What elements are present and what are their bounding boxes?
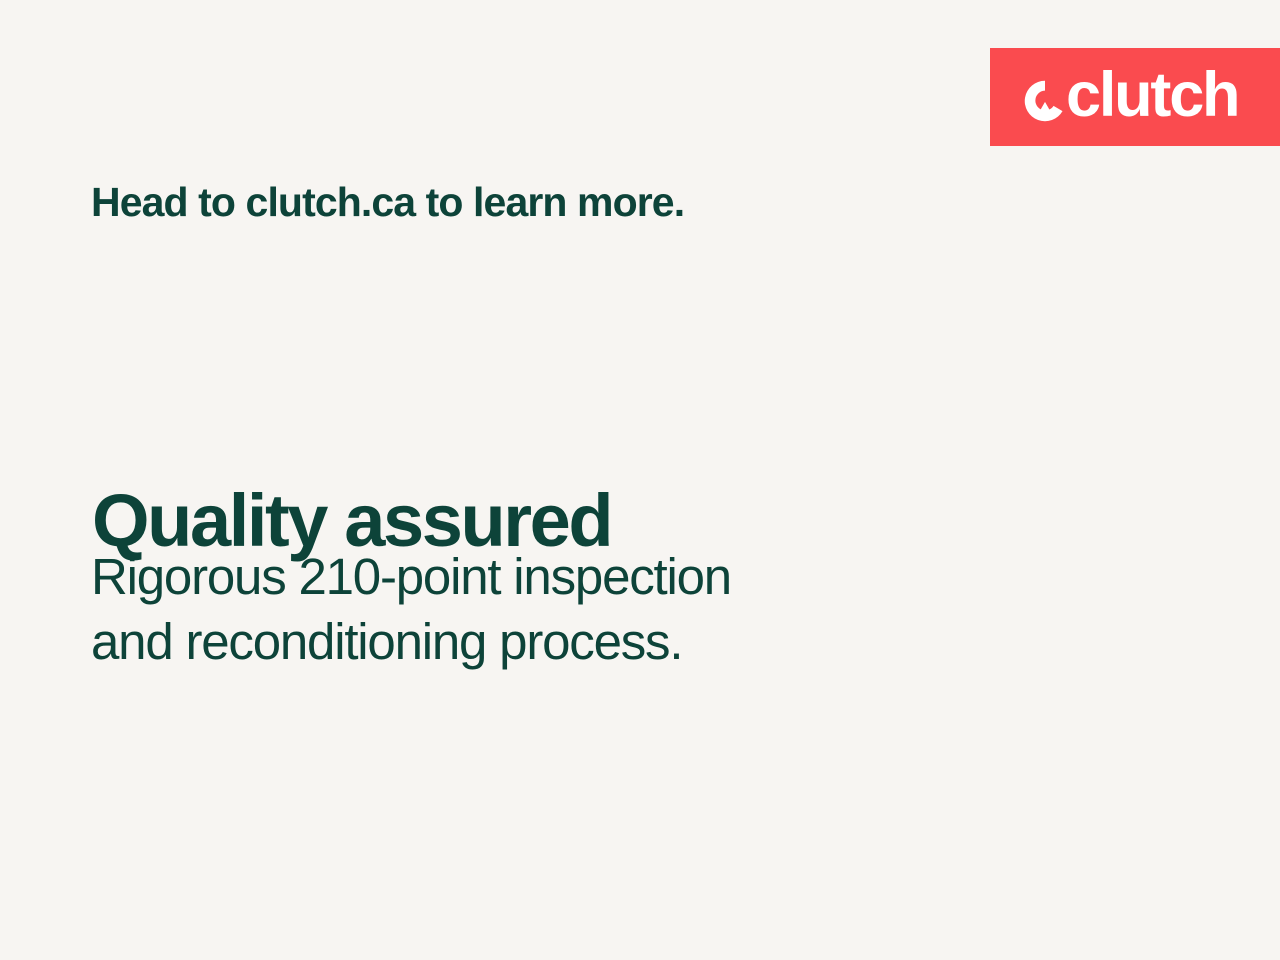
clutch-c-mark-icon <box>1022 78 1068 124</box>
subheading-block: Rigorous 210-point inspection and recond… <box>91 544 731 675</box>
subheading-line: and reconditioning process. <box>91 609 731 674</box>
clutch-wordmark: clutch <box>1066 64 1238 127</box>
clutch-logo-lockup: clutch <box>1022 68 1238 126</box>
slide-canvas: clutch Head to clutch.ca to learn more. … <box>0 0 1280 960</box>
tagline-text: Head to clutch.ca to learn more. <box>91 178 684 227</box>
clutch-brand-block[interactable]: clutch <box>990 48 1280 146</box>
subheading-line: Rigorous 210-point inspection <box>91 544 731 609</box>
